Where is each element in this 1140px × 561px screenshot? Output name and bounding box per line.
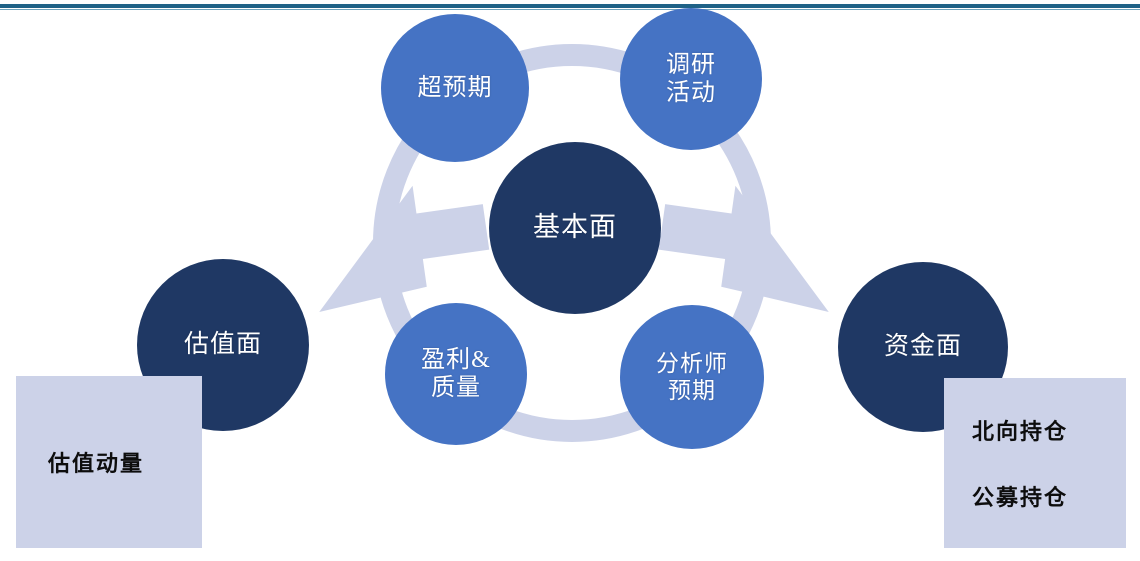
satellite-node-label: 分析师 预期	[656, 350, 728, 404]
satellite-node-label: 盈利& 质量	[421, 346, 491, 403]
side-box-left-valuation-momentum[interactable]: 估值动量	[16, 376, 202, 548]
side-box-line: 北向持仓	[972, 414, 1126, 446]
side-box-line: 公募持仓	[972, 480, 1126, 512]
side-node-label: 资金面	[884, 332, 962, 362]
satellite-node-ying-li-zhi-liang[interactable]: 盈利& 质量	[385, 303, 527, 445]
center-node-label: 基本面	[533, 212, 617, 244]
diagram-canvas: 基本面 超预期 调研 活动 盈利& 质量 分析师 预期 估值面 资金面 估值动量…	[0, 0, 1140, 561]
satellite-node-fen-xi-shi-yu-qi[interactable]: 分析师 预期	[620, 305, 764, 449]
satellite-node-label: 超预期	[418, 74, 493, 102]
center-node-fundamentals[interactable]: 基本面	[489, 142, 661, 314]
side-box-line: 估值动量	[48, 446, 202, 478]
side-node-label: 估值面	[184, 330, 262, 360]
satellite-node-chao-yu-qi[interactable]: 超预期	[381, 14, 529, 162]
satellite-node-diao-yan[interactable]: 调研 活动	[620, 8, 762, 150]
satellite-node-label: 调研 活动	[666, 51, 716, 108]
side-box-right-holdings[interactable]: 北向持仓 公募持仓	[944, 378, 1126, 548]
